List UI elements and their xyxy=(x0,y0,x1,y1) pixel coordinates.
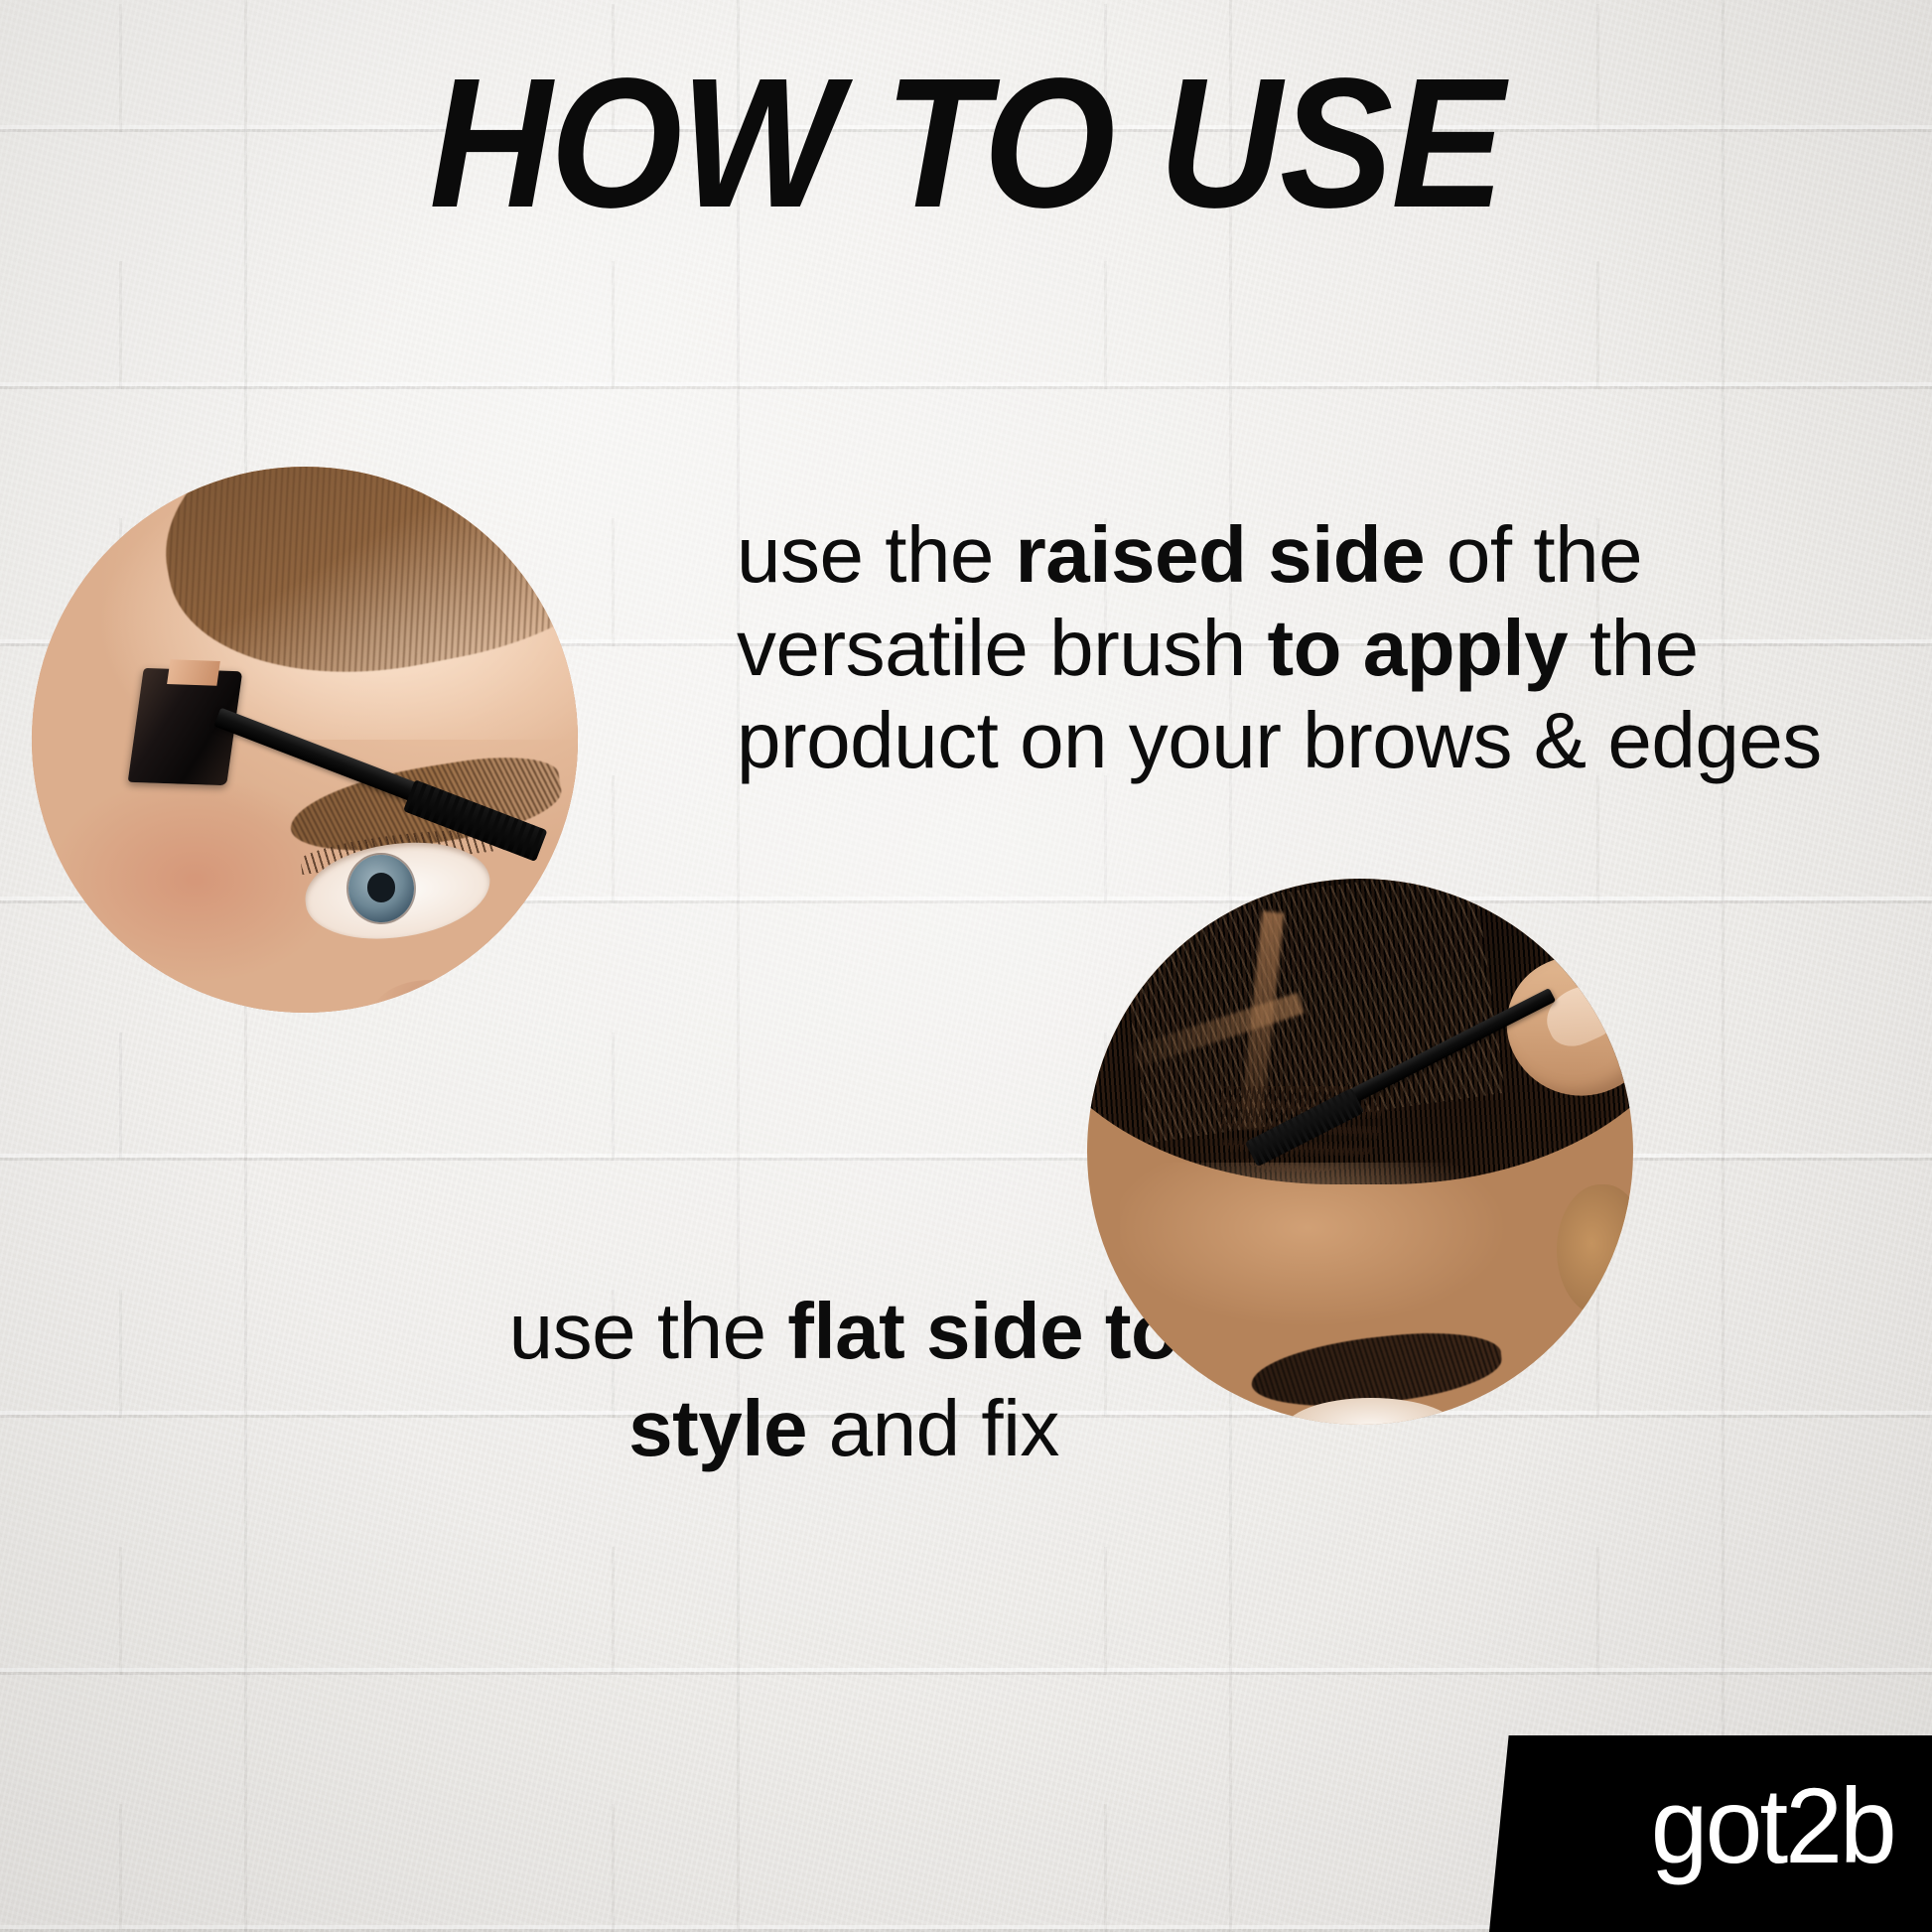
step-brows-copy: use the raised side of the versatile bru… xyxy=(737,508,1888,787)
page-title: HOW TO USE xyxy=(77,52,1855,236)
second-iris xyxy=(496,964,551,1014)
brand-wordmark: got2b xyxy=(1651,1772,1927,1895)
pupil xyxy=(367,873,396,902)
copy-text: use the xyxy=(737,510,1016,599)
copy-emphasis: raised side xyxy=(1016,510,1426,599)
copy-emphasis: to apply xyxy=(1267,604,1568,692)
photo-model-applying-brow-gel-with-spoolie xyxy=(32,467,578,1013)
brand-logo-got2b: got2b xyxy=(1489,1735,1932,1932)
copy-text: use the xyxy=(509,1287,788,1375)
copy-text: and fix xyxy=(807,1384,1059,1472)
copy-emphasis: flat side xyxy=(787,1287,1083,1375)
brush-cap-gold-accent xyxy=(167,660,219,686)
photo-model-styling-edges-with-flat-side xyxy=(1087,879,1633,1425)
poster-canvas: HOW TO USE use the raised side of the ve… xyxy=(0,0,1932,1932)
